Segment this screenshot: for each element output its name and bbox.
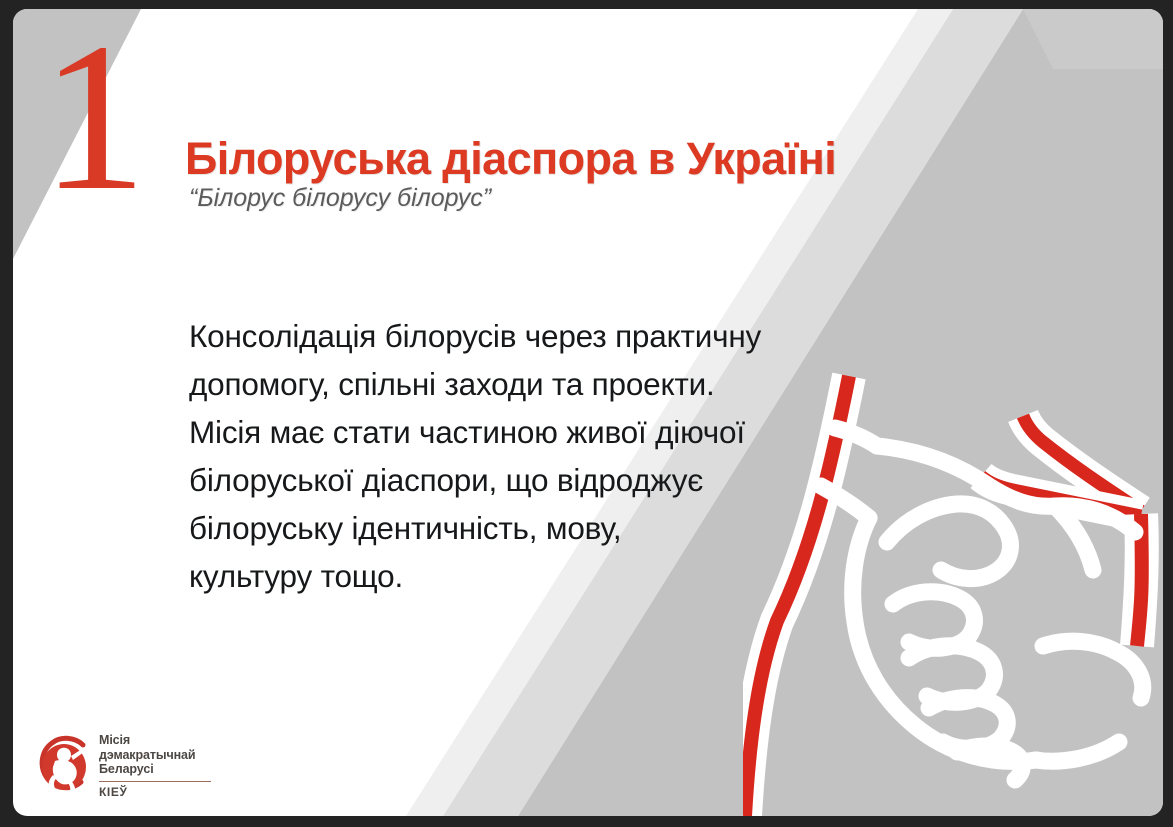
page-title: Білоруська діаспора в Україні	[185, 135, 836, 182]
logo-city: КІЕЎ	[99, 785, 211, 799]
slide-number: 1	[41, 11, 145, 223]
body-line: Консолідація білорусів через практичну	[189, 312, 909, 360]
body-line: культуру тощо.	[189, 552, 909, 600]
slide-frame: 1 Білоруська діаспора в Україні “Білорус…	[0, 0, 1173, 827]
heading-block: Білоруська діаспора в Україні “Білорус б…	[185, 135, 836, 213]
pahonia-knight-emblem-icon	[37, 735, 93, 797]
body-line: білоруської діаспори, що відроджує	[189, 456, 909, 504]
slide-canvas: 1 Білоруська діаспора в Україні “Білорус…	[13, 9, 1163, 816]
page-subtitle: “Білорус білорусу білорус”	[189, 184, 836, 213]
body-line: допомогу, спільні заходи та проекти.	[189, 360, 909, 408]
body-line: білоруську ідентичність, мову,	[189, 504, 909, 552]
body-line: Місія має стати частиною живої діючої	[189, 408, 909, 456]
logo-lockup: Місія дэмакратычнай Беларусі КІЕЎ	[37, 733, 211, 799]
logo-text-block: Місія дэмакратычнай Беларусі КІЕЎ	[99, 733, 211, 799]
logo-divider	[99, 781, 211, 783]
body-copy: Консолідація білорусів через практичну д…	[189, 312, 909, 600]
logo-org-name: Місія дэмакратычнай Беларусі	[99, 733, 211, 777]
